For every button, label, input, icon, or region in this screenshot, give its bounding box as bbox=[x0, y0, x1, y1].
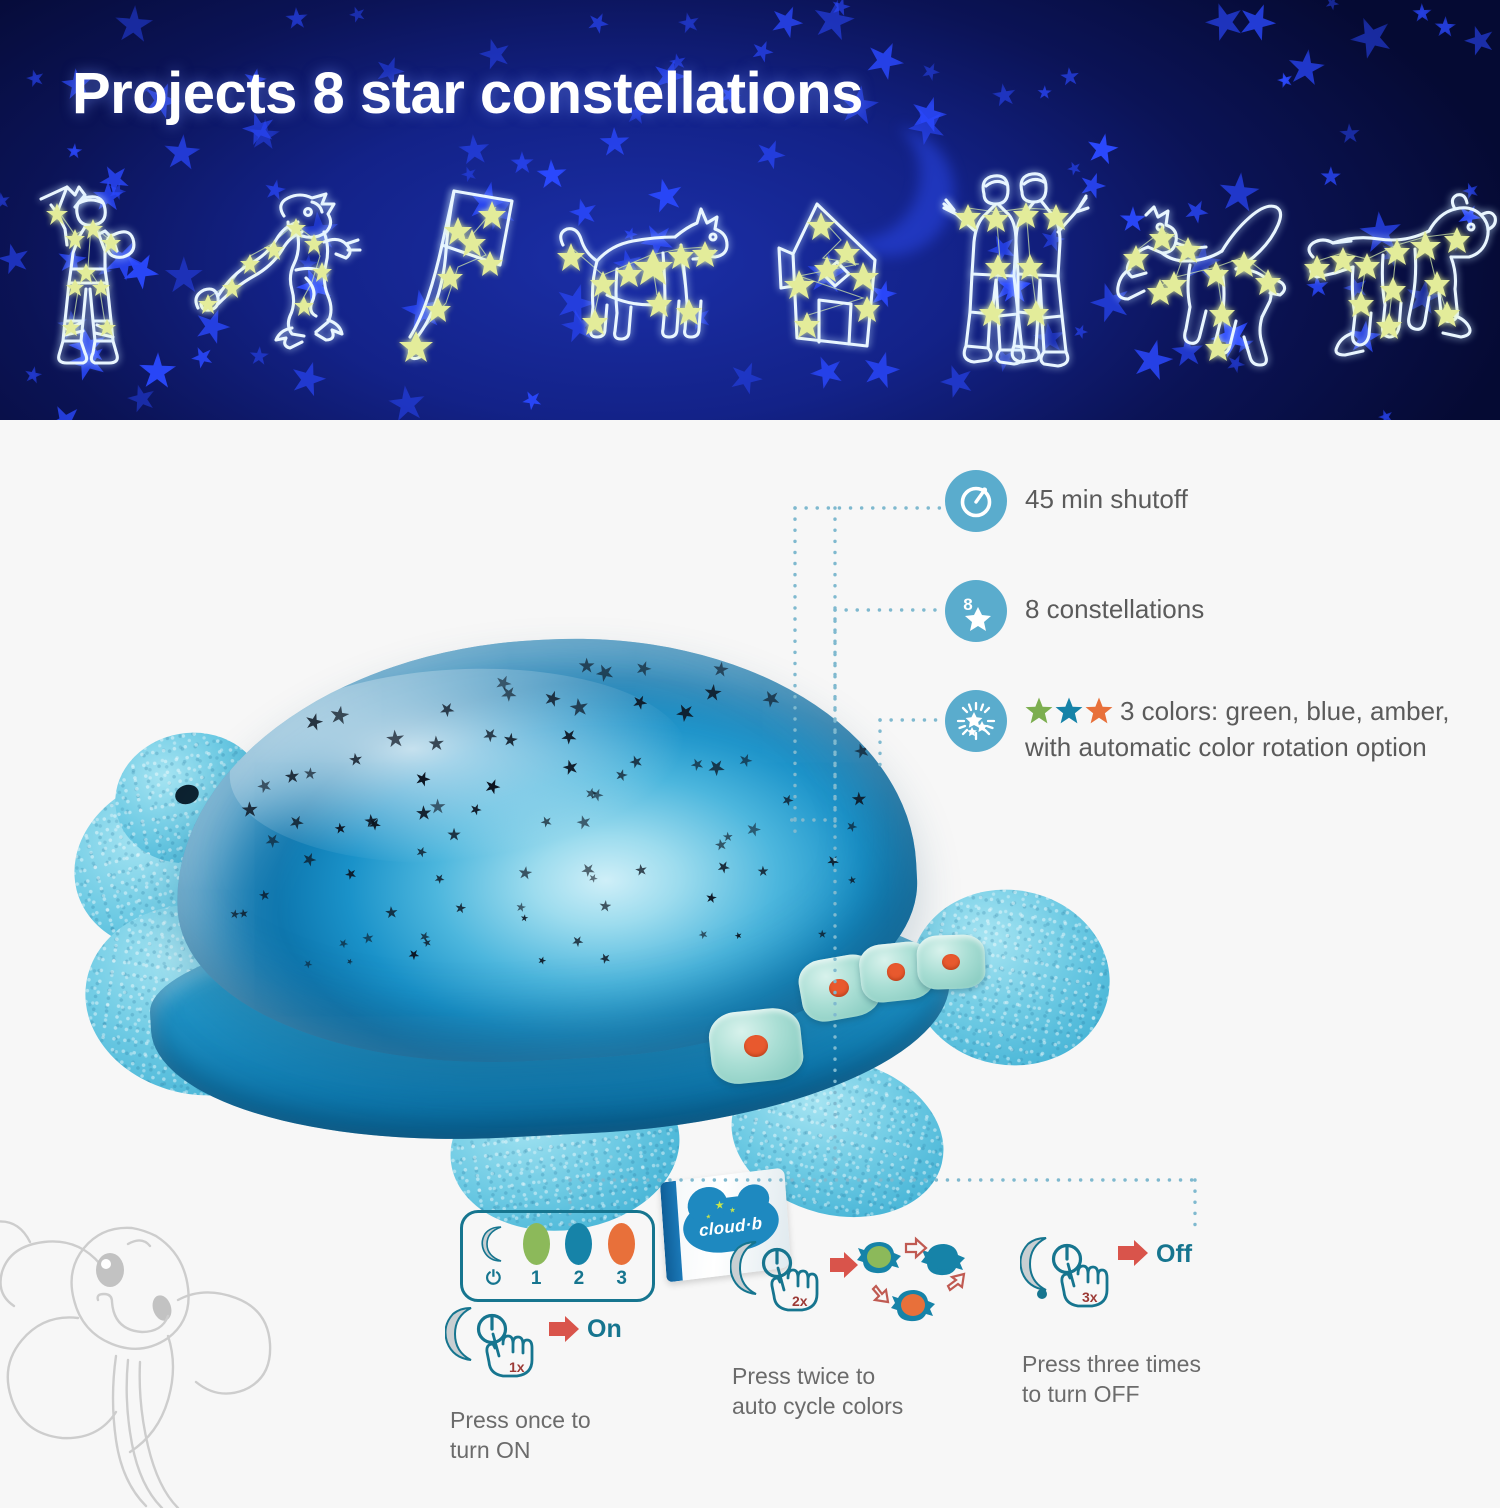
button-indicator-dot bbox=[886, 962, 906, 981]
button-indicator-dot bbox=[743, 1034, 769, 1058]
result-off-label: Off bbox=[1156, 1240, 1193, 1268]
cycle-turtle-green bbox=[857, 1242, 901, 1273]
constellation-row bbox=[0, 165, 1500, 380]
arrow-right-icon bbox=[549, 1316, 579, 1342]
feature-45-min-shutoff: 45 min shutoff bbox=[945, 470, 1485, 532]
cycle-turtle-blue bbox=[921, 1244, 965, 1275]
turtle-power-button[interactable] bbox=[706, 1005, 805, 1086]
feature-label: 45 min shutoff bbox=[1025, 470, 1188, 518]
panel-power-label: ⏻ bbox=[486, 1268, 501, 1290]
panel-label-3: 3 bbox=[616, 1268, 627, 1290]
colors-line-1: 3 colors: green, blue, amber, bbox=[1120, 696, 1450, 726]
starry-sky-banner: Projects 8 star constellations bbox=[0, 0, 1500, 420]
caption-line-1: Press once to bbox=[450, 1407, 591, 1433]
constellation-dragon-draco bbox=[185, 165, 370, 380]
press-once-gesture: 1x On bbox=[445, 1304, 695, 1390]
blue-star-swatch bbox=[1055, 697, 1083, 725]
usage-instructions: ⏻ 1 2 3 bbox=[440, 1210, 1260, 1480]
panel-green: 1 bbox=[523, 1223, 550, 1290]
panel-label-1: 1 bbox=[531, 1268, 542, 1290]
control-panel-diagram: ⏻ 1 2 3 bbox=[460, 1210, 655, 1302]
eight-constellations-icon: 8 bbox=[945, 580, 1007, 642]
constellation-dog-canis-major bbox=[555, 165, 740, 380]
amber-star-swatch bbox=[1085, 697, 1113, 725]
panel-power: ⏻ bbox=[480, 1223, 507, 1290]
press-count-3x: 3x bbox=[1082, 1289, 1098, 1305]
arrow-right-icon-2 bbox=[830, 1252, 858, 1278]
product-detail-area: cloud·b bbox=[0, 420, 1500, 1500]
press-count-2x: 2x bbox=[792, 1293, 808, 1309]
banner-title: Projects 8 star constellations bbox=[72, 60, 863, 127]
cycle-turtle-amber bbox=[891, 1290, 935, 1321]
colors-line-2: with automatic color rotation option bbox=[1025, 732, 1427, 762]
feature-label: 8 constellations bbox=[1025, 580, 1204, 628]
panel-blue: 2 bbox=[565, 1223, 592, 1290]
off-indicator-dot bbox=[1037, 1289, 1047, 1299]
amber-pill bbox=[608, 1223, 635, 1265]
feature-3-colors: 3 colors: green, blue, amber, with autom… bbox=[945, 690, 1485, 766]
button-indicator-dot bbox=[827, 977, 850, 999]
feature-list: 45 min shutoff 8 8 constellations bbox=[945, 470, 1485, 814]
caption-line-2: turn ON bbox=[450, 1437, 531, 1463]
green-star-swatch bbox=[1025, 697, 1053, 725]
panel-amber: 3 bbox=[608, 1223, 635, 1290]
button-indicator-dot bbox=[942, 954, 960, 971]
caption-line-1: Press twice to bbox=[732, 1363, 875, 1389]
feature-label-colors: 3 colors: green, blue, amber, with autom… bbox=[1025, 690, 1450, 766]
caption-press-twice: Press twice to auto cycle colors bbox=[732, 1362, 982, 1422]
caption-press-three: Press three times to turn OFF bbox=[1022, 1350, 1262, 1410]
constellation-bear-ursa-major bbox=[1305, 165, 1500, 380]
constellation-pegasus bbox=[1110, 165, 1305, 380]
press-three-times-gesture: 3x Off bbox=[1020, 1232, 1260, 1342]
feature-8-constellations: 8 8 constellations bbox=[945, 580, 1485, 642]
svg-text:8: 8 bbox=[963, 595, 972, 614]
caption-line-1: Press three times bbox=[1022, 1351, 1201, 1377]
panel-label-2: 2 bbox=[574, 1268, 585, 1290]
arrow-right-icon-3 bbox=[1118, 1240, 1148, 1266]
color-burst-icon bbox=[945, 690, 1007, 752]
constellation-kite-cygnus bbox=[370, 165, 555, 380]
timer-icon bbox=[945, 470, 1007, 532]
constellation-warrior-orion bbox=[0, 165, 185, 380]
result-on-label: On bbox=[587, 1315, 622, 1343]
constellation-twins-gemini bbox=[925, 165, 1110, 380]
constellation-house-cassiopeia bbox=[740, 165, 925, 380]
press-twice-gesture: 2x bbox=[730, 1232, 990, 1342]
moon-icon bbox=[480, 1223, 507, 1265]
green-pill bbox=[523, 1223, 550, 1265]
color-star-swatches bbox=[1025, 697, 1113, 725]
caption-press-once: Press once to turn ON bbox=[450, 1406, 690, 1466]
turtle-color-button-3[interactable] bbox=[916, 934, 986, 990]
caption-line-2: auto cycle colors bbox=[732, 1393, 903, 1419]
press-count-1x: 1x bbox=[509, 1359, 525, 1375]
blue-pill bbox=[565, 1223, 592, 1265]
caption-line-2: to turn OFF bbox=[1022, 1381, 1140, 1407]
